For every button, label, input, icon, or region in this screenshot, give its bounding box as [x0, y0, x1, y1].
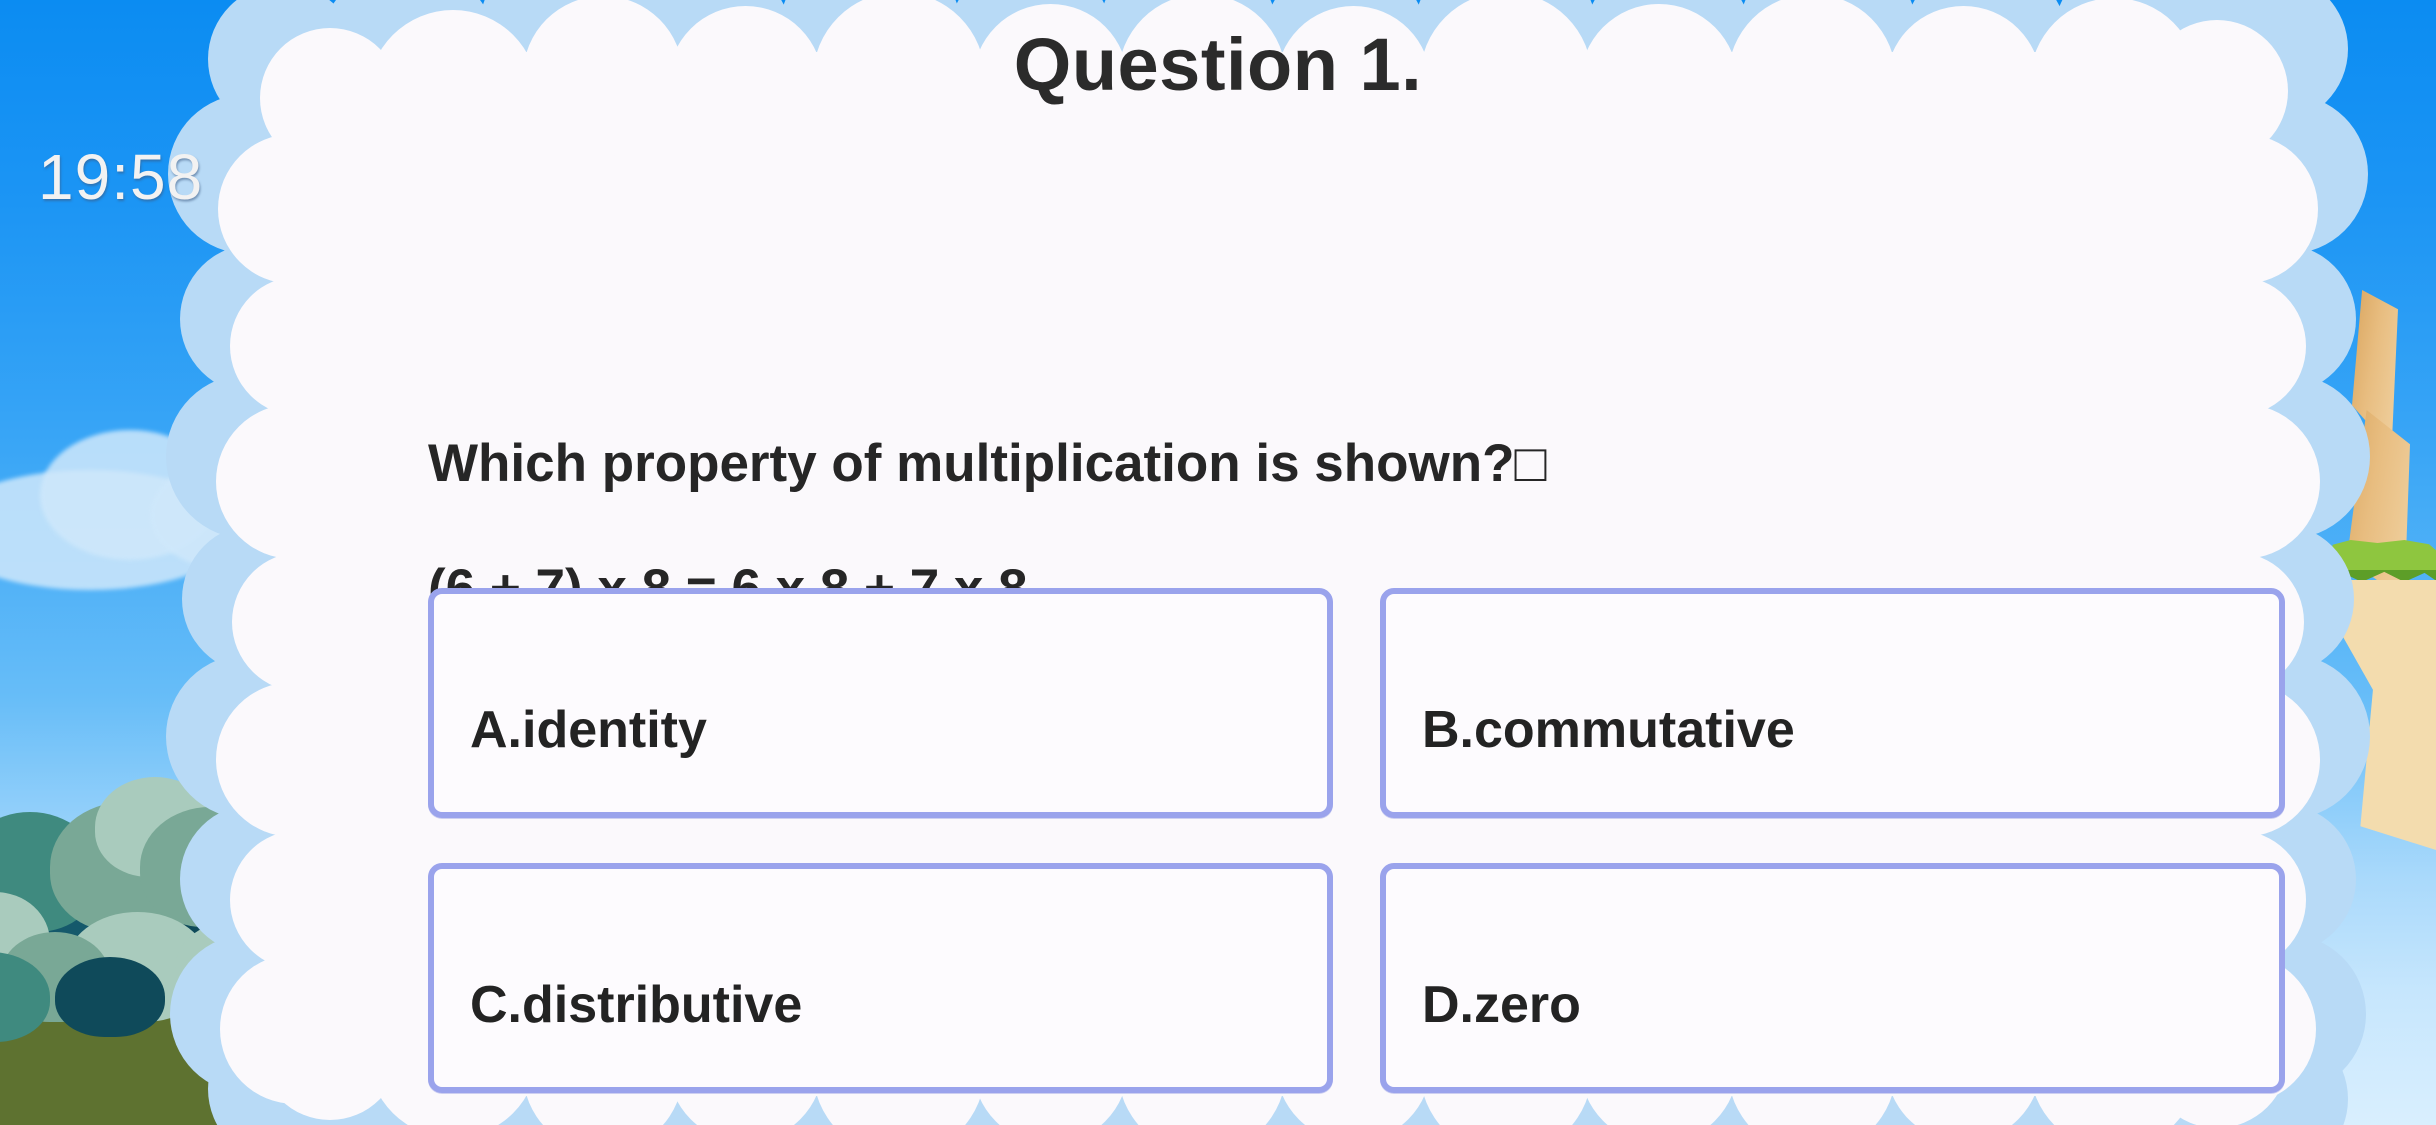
answer-options: A.identity B.commutative C.distributive … — [428, 588, 2290, 1093]
answer-option-b[interactable]: B.commutative — [1380, 588, 2285, 818]
quiz-content: Question 1. Which property of multiplica… — [0, 0, 2436, 1125]
question-line-1: Which property of multiplication is show… — [428, 434, 1547, 493]
quiz-screen: Question 1. Which property of multiplica… — [0, 0, 2436, 1125]
answer-option-c[interactable]: C.distributive — [428, 863, 1333, 1093]
answer-option-b-label: B.commutative — [1386, 704, 1795, 812]
page-title: Question 1. — [0, 22, 2436, 107]
answer-option-a-label: A.identity — [434, 704, 707, 812]
answer-option-c-label: C.distributive — [434, 979, 802, 1087]
answer-option-d-label: D.zero — [1386, 979, 1581, 1087]
answer-option-d[interactable]: D.zero — [1380, 863, 2285, 1093]
countdown-timer: 19:58 — [38, 140, 203, 214]
answer-option-a[interactable]: A.identity — [428, 588, 1333, 818]
